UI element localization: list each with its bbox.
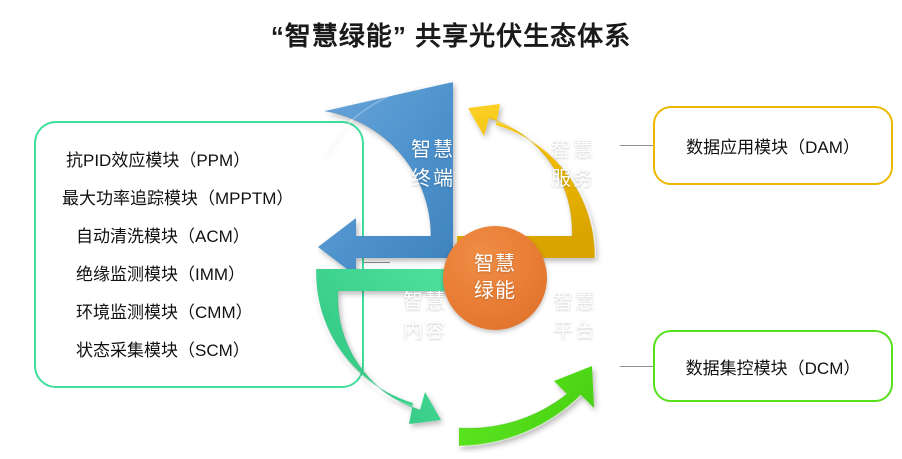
center-hub[interactable]: 智慧 绿能 bbox=[443, 226, 547, 330]
center-hub-line1: 智慧 bbox=[474, 251, 516, 278]
dcm-panel: 数据集控模块（DCM） bbox=[653, 330, 893, 402]
dam-label: 数据应用模块（DAM） bbox=[655, 108, 891, 183]
connector-dcm bbox=[620, 366, 656, 367]
quadrant-top-left[interactable] bbox=[318, 82, 453, 276]
dam-panel: 数据应用模块（DAM） bbox=[653, 106, 893, 185]
quadrant-bottom-left[interactable] bbox=[316, 269, 453, 424]
dcm-label: 数据集控模块（DCM） bbox=[655, 332, 891, 400]
center-hub-line2: 绿能 bbox=[474, 278, 516, 305]
page-title: “智慧绿能” 共享光伏生态体系 bbox=[0, 16, 902, 53]
connector-dam bbox=[620, 145, 656, 146]
